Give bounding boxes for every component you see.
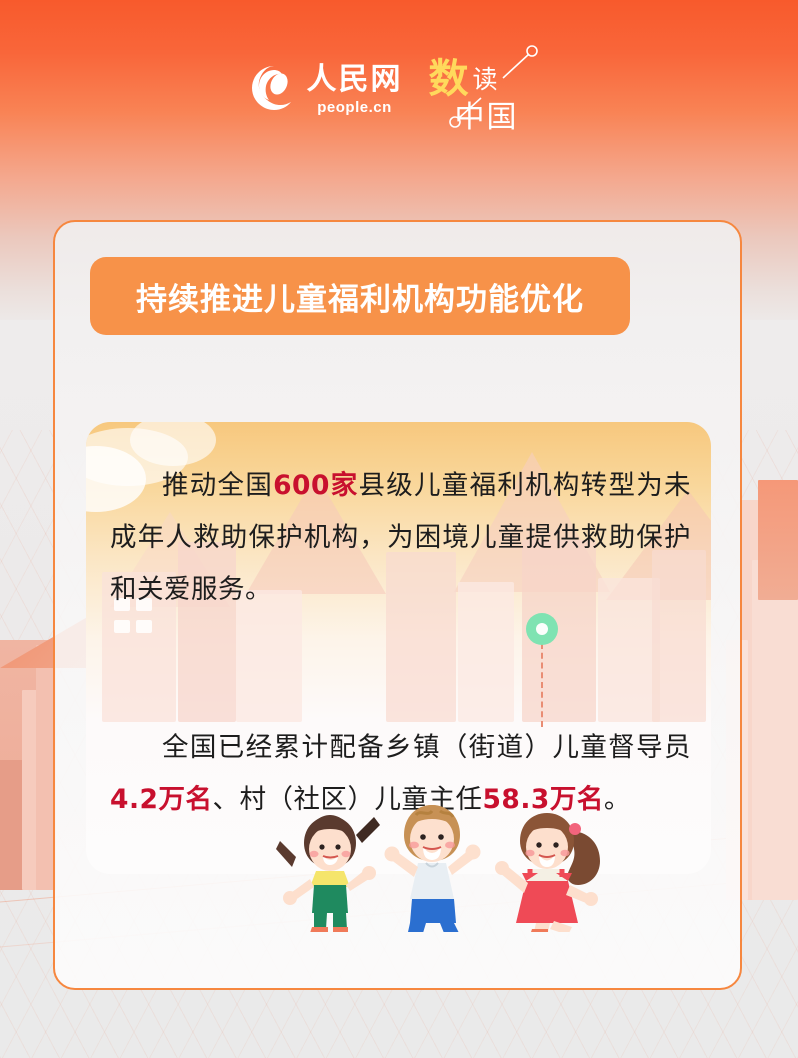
child-girl-green (276, 815, 380, 932)
infographic-stage: 人民网 people.cn 数 读 中国 持续推进儿童福利机构功能优化 (0, 0, 798, 1058)
series-line-zhongguo: 中国 (455, 92, 519, 136)
p1-highlight-600: 600家 (273, 470, 358, 501)
panel-building-window (114, 620, 130, 633)
child-boy-blue (385, 805, 481, 932)
three-jumping-children-illustration (270, 797, 620, 932)
brand-name-cn: 人民网 (307, 65, 403, 95)
p1-pre-text: 推动全国 (162, 470, 273, 501)
brand-name-en: people.cn (317, 99, 392, 116)
paragraph-one: 推动全国600家县级儿童福利机构转型为未成年人救助保护机构，为困境儿童提供救助保… (88, 460, 713, 616)
green-dot-marker-icon (526, 613, 558, 645)
section-title-banner: 持续推进儿童福利机构功能优化 (90, 257, 630, 335)
dashed-connector-line (541, 643, 543, 727)
child-girl-red (495, 813, 600, 932)
content-card: 持续推进儿童福利机构功能优化 (53, 220, 742, 990)
city-building-silhouette (758, 480, 798, 600)
series-title-shudu-zhongguo: 数 读 中国 (429, 42, 549, 138)
site-header: 人民网 people.cn 数 读 中国 (0, 40, 798, 140)
globe-icon (250, 64, 298, 112)
series-char-du: 读 (473, 60, 498, 96)
panel-building-window (136, 620, 152, 633)
section-title-text: 持续推进儿童福利机构功能优化 (136, 274, 584, 319)
people-cn-logo: 人民网 people.cn (250, 64, 403, 116)
p2-pre-text: 全国已经累计配备乡镇（街道）儿童督导员 (162, 732, 691, 763)
p2-highlight-42wan: 4.2万名 (110, 784, 212, 815)
city-building-silhouette (752, 560, 798, 900)
